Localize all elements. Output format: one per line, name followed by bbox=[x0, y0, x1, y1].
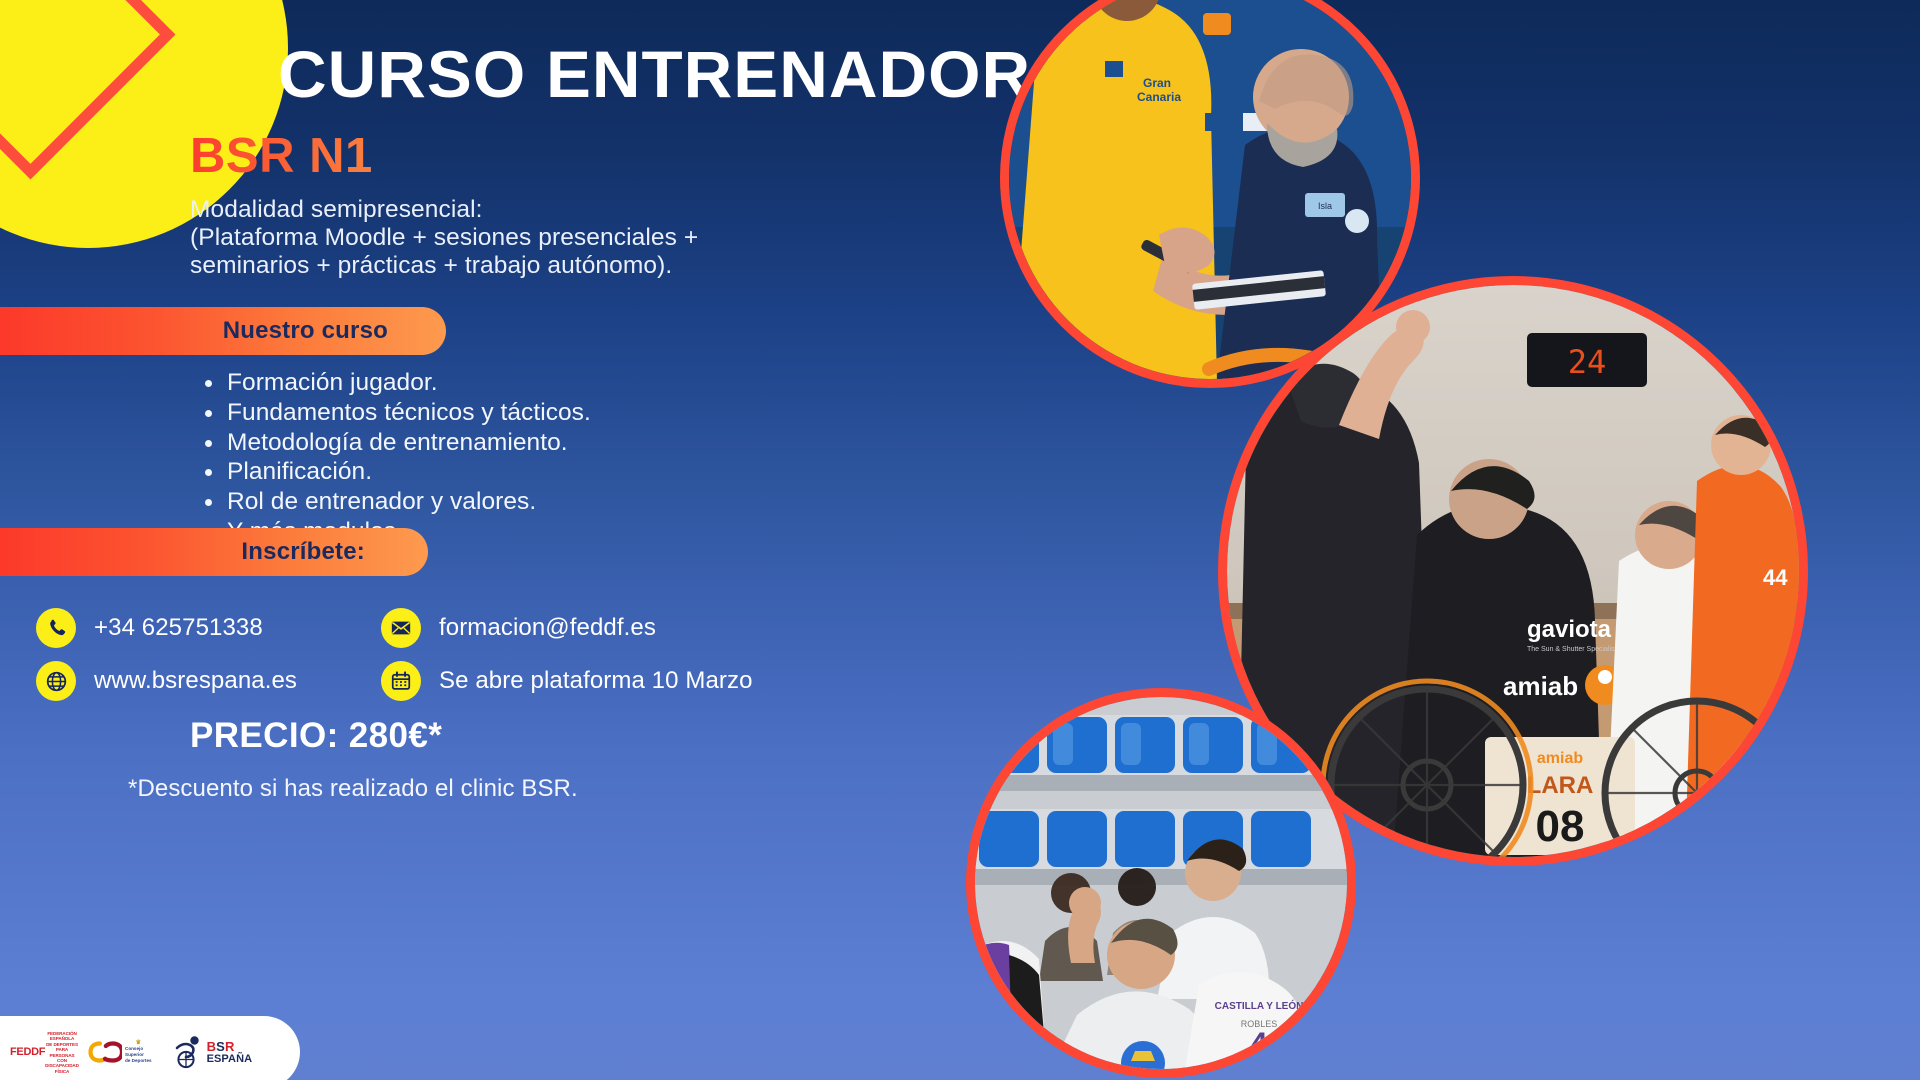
discount-note: *Descuento si has realizado el clinic BS… bbox=[128, 775, 578, 803]
svg-text:CASTILLA Y LEÓN: CASTILLA Y LEÓN bbox=[1215, 999, 1304, 1012]
svg-text:24: 24 bbox=[1568, 343, 1607, 381]
logo-csd-text: ♛ Consejo Superior de Deportes bbox=[125, 1040, 152, 1063]
logo-feddf: FEDDF FEDERACIÓN ESPAÑOLA DE DEPORTES PA… bbox=[10, 1030, 66, 1074]
logo-bsr-r: R bbox=[225, 1039, 235, 1054]
list-item: Formación jugador. bbox=[200, 368, 591, 398]
banner-nuestro-curso-label: Nuestro curso bbox=[223, 317, 388, 345]
course-level-subtitle: BSR N1 bbox=[190, 128, 373, 184]
svg-text:LARA: LARA bbox=[1527, 772, 1594, 799]
contact-phone-text: +34 625751338 bbox=[94, 614, 263, 642]
logo-csd: ♛ Consejo Superior de Deportes bbox=[88, 1039, 152, 1065]
contact-website-text: www.bsrespana.es bbox=[94, 667, 297, 695]
list-item: Metodología de entrenamiento. bbox=[200, 428, 591, 458]
csd-mark-icon bbox=[88, 1039, 122, 1065]
bsr-player-icon bbox=[174, 1035, 204, 1069]
svg-text:Canaria: Canaria bbox=[1137, 90, 1181, 104]
svg-text:44: 44 bbox=[1763, 565, 1788, 590]
list-item: Rol de entrenador y valores. bbox=[200, 487, 591, 517]
svg-text:Isla: Isla bbox=[1318, 201, 1332, 211]
contact-website[interactable]: www.bsrespana.es bbox=[36, 661, 381, 701]
svg-text:Gran: Gran bbox=[1143, 76, 1171, 90]
phone-icon bbox=[36, 608, 76, 648]
photo-top-content: Gran Canaria Isla bbox=[1009, 0, 1411, 379]
list-item: Planificación. bbox=[200, 457, 591, 487]
poster-root: CURSO ENTRENADOR BSR N1 Modalidad semipr… bbox=[0, 0, 1920, 1080]
photo-bottom-content: CASTILLA Y LEÓN ROBLES 4 bbox=[975, 697, 1347, 1069]
contact-phone[interactable]: +34 625751338 bbox=[36, 608, 381, 648]
svg-text:amiab: amiab bbox=[1503, 671, 1578, 701]
contact-block: +34 625751338 formacion@feddf.es bbox=[36, 600, 776, 706]
photo-coach-yellow-team: Gran Canaria Isla bbox=[1000, 0, 1420, 388]
svg-text:The Sun & Shutter Specialists: The Sun & Shutter Specialists bbox=[1527, 646, 1620, 653]
svg-text:amiab: amiab bbox=[1537, 750, 1583, 767]
logo-feddf-acronym: FEDDF bbox=[10, 1047, 45, 1058]
module-list: Formación jugador. Fundamentos técnicos … bbox=[200, 368, 591, 547]
modality-description: Modalidad semipresencial: (Plataforma Mo… bbox=[190, 196, 698, 280]
globe-icon bbox=[36, 661, 76, 701]
contact-row-1: +34 625751338 formacion@feddf.es bbox=[36, 600, 776, 656]
logo-bsr-s: S bbox=[216, 1039, 225, 1054]
banner-nuestro-curso: Nuestro curso bbox=[0, 307, 446, 355]
logo-bsr-text: BSR ESPAÑA bbox=[207, 1040, 253, 1065]
logo-bsr-word2: ESPAÑA bbox=[207, 1054, 253, 1065]
contact-date: Se abre plataforma 10 Marzo bbox=[381, 661, 753, 701]
logo-bsr-espana: BSR ESPAÑA bbox=[174, 1035, 253, 1069]
logo-bsr-word1: BSR bbox=[207, 1040, 253, 1053]
banner-inscribete: Inscríbete: bbox=[0, 528, 428, 576]
calendar-icon bbox=[381, 661, 421, 701]
logo-bsr-b: B bbox=[207, 1039, 217, 1054]
contact-row-2: www.bsrespana.es bbox=[36, 653, 776, 709]
contact-email[interactable]: formacion@feddf.es bbox=[381, 608, 656, 648]
banner-inscribete-label: Inscríbete: bbox=[241, 538, 365, 566]
footer-logo-bar: FEDDF FEDERACIÓN ESPAÑOLA DE DEPORTES PA… bbox=[0, 1016, 300, 1080]
photo-classroom-castilla-leon: CASTILLA Y LEÓN ROBLES 4 bbox=[966, 688, 1356, 1078]
logo-feddf-subtitle: FEDERACIÓN ESPAÑOLA DE DEPORTES PARA PER… bbox=[45, 1031, 79, 1074]
price-label: PRECIO: 280€* bbox=[190, 716, 442, 756]
svg-text:4: 4 bbox=[1251, 1027, 1268, 1060]
page-title: CURSO ENTRENADOR bbox=[278, 36, 1031, 112]
contact-date-text: Se abre plataforma 10 Marzo bbox=[439, 667, 753, 695]
logo-csd-line3: de Deportes bbox=[125, 1058, 152, 1064]
contact-email-text: formacion@feddf.es bbox=[439, 614, 656, 642]
list-item: Fundamentos técnicos y tácticos. bbox=[200, 398, 591, 428]
svg-text:08: 08 bbox=[1536, 802, 1585, 851]
svg-text:gaviota: gaviota bbox=[1527, 616, 1612, 643]
envelope-icon bbox=[381, 608, 421, 648]
